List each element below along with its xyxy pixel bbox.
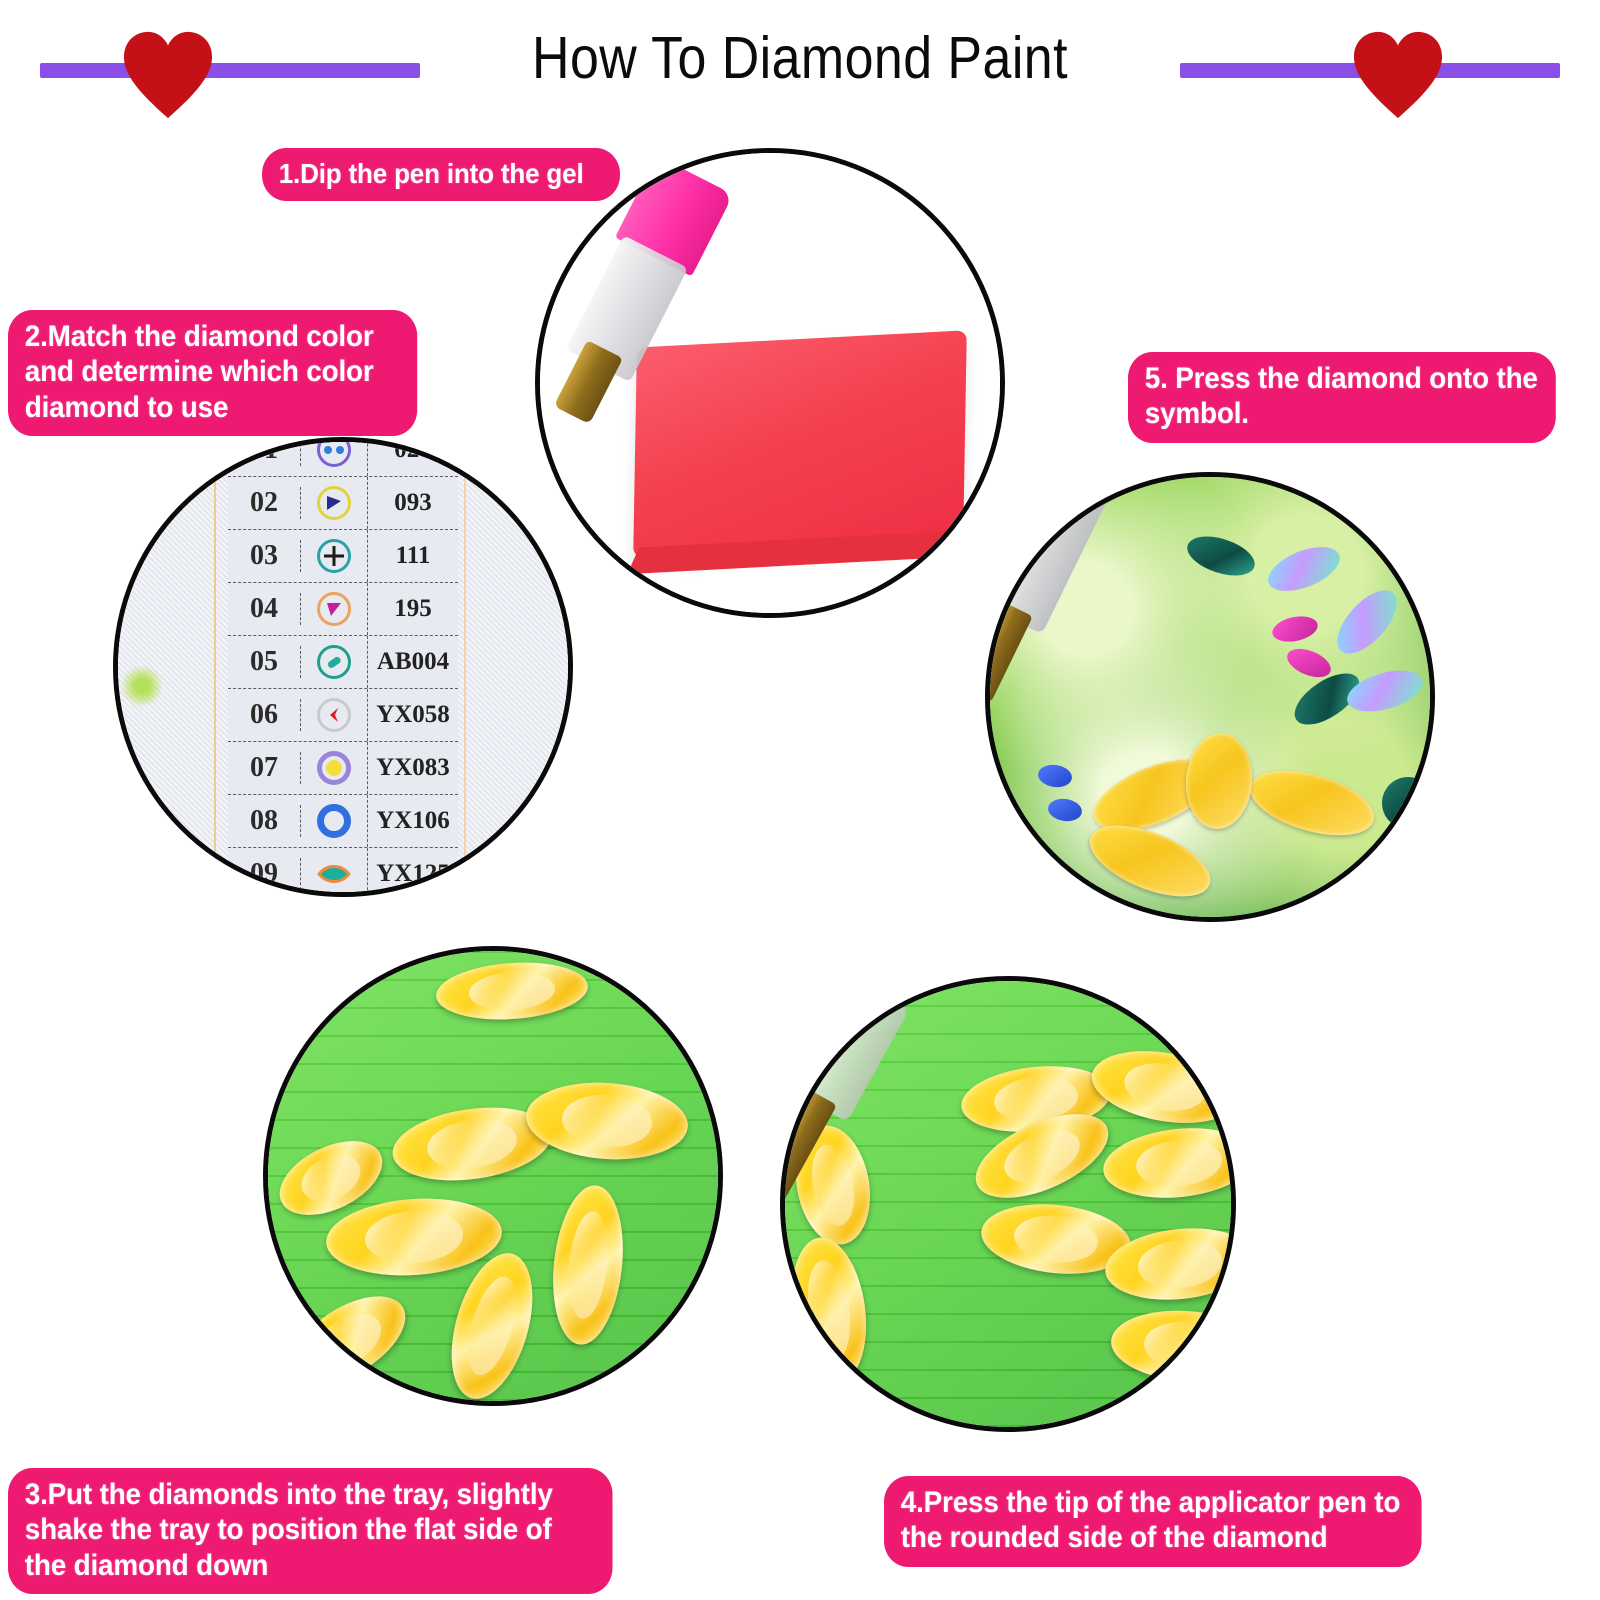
red-chevron-circle-icon — [317, 698, 351, 732]
navy-triangle-yellow-ring-icon — [317, 486, 351, 520]
green-paint-blob — [120, 666, 164, 706]
legend-dmc: 111 — [368, 542, 458, 570]
magenta-triangle-orange-ring-icon — [317, 592, 351, 626]
legend-dmc: YX058 — [368, 701, 458, 729]
legend-dmc: YX083 — [368, 754, 458, 782]
double-dot-circle-icon — [317, 437, 351, 467]
legend-code: 05 — [228, 646, 301, 678]
table-row: 02 093 — [228, 477, 458, 530]
legend-symbol — [301, 530, 368, 582]
orange-guide-line-left — [214, 442, 216, 892]
photo-diamonds-in-green-tray — [263, 946, 723, 1406]
legend-dmc: YX125 — [368, 860, 458, 888]
legend-table: 01 028 02 093 03 11 — [228, 437, 458, 897]
legend-symbol — [301, 795, 368, 847]
table-row: 03 111 — [228, 530, 458, 583]
yellow-dot-purple-ring-icon — [317, 751, 351, 785]
legend-code: 01 — [228, 437, 301, 466]
table-row: 08 YX106 — [228, 795, 458, 848]
legend-code: 08 — [228, 805, 301, 837]
legend-code: 07 — [228, 752, 301, 784]
teal-capsule-circle-icon — [317, 645, 351, 679]
canvas-gem — [1382, 777, 1434, 829]
legend-symbol — [301, 437, 368, 476]
table-row: 01 028 — [228, 437, 458, 477]
legend-symbol — [301, 742, 368, 794]
photo-pen-dipping-into-gel-wax — [535, 148, 1005, 618]
orange-guide-line-outer — [464, 442, 466, 892]
legend-code: 09 — [228, 858, 301, 890]
legend-symbol — [301, 583, 368, 635]
table-row: 07 YX083 — [228, 742, 458, 795]
legend-symbol — [301, 636, 368, 688]
legend-symbol — [301, 477, 368, 529]
legend-dmc: 028 — [368, 437, 458, 464]
legend-symbol — [301, 848, 368, 897]
photo-pressing-diamond-onto-canvas — [985, 472, 1435, 922]
gel-wax-square — [633, 330, 967, 558]
table-row: 04 195 — [228, 583, 458, 636]
legend-dmc: 093 — [368, 489, 458, 517]
legend-code: 06 — [228, 699, 301, 731]
page-header: How To Diamond Paint — [0, 0, 1600, 120]
legend-code: 03 — [228, 540, 301, 572]
page-title: How To Diamond Paint — [96, 24, 1504, 92]
teal-symbol-blob — [116, 822, 160, 858]
legend-dmc: 195 — [368, 595, 458, 623]
step-3-label: 3.Put the diamonds into the tray, slight… — [8, 1468, 613, 1594]
table-row: 09 YX125 — [228, 848, 458, 897]
step-4-label: 4.Press the tip of the applicator pen to… — [884, 1476, 1422, 1567]
photo-pen-picking-diamond-from-tray — [780, 976, 1236, 1432]
legend-code: 02 — [228, 487, 301, 519]
teal-plus-circle-icon — [317, 539, 351, 573]
pen-tip — [554, 340, 623, 424]
teal-leaf-orange-outline-icon — [317, 857, 351, 891]
legend-symbol — [301, 689, 368, 741]
legend-dmc: AB004 — [368, 648, 458, 676]
step-5-label: 5. Press the diamond onto the symbol. — [1128, 352, 1556, 443]
legend-code: 04 — [228, 593, 301, 625]
table-row: 05 AB004 — [228, 636, 458, 689]
photo-symbol-legend-chart: 01 028 02 093 03 11 — [113, 437, 573, 897]
table-row: 06 YX058 — [228, 689, 458, 742]
blue-ring-icon — [317, 804, 351, 838]
step-2-label: 2.Match the diamond color and determine … — [8, 310, 417, 436]
legend-dmc: YX106 — [368, 807, 458, 835]
